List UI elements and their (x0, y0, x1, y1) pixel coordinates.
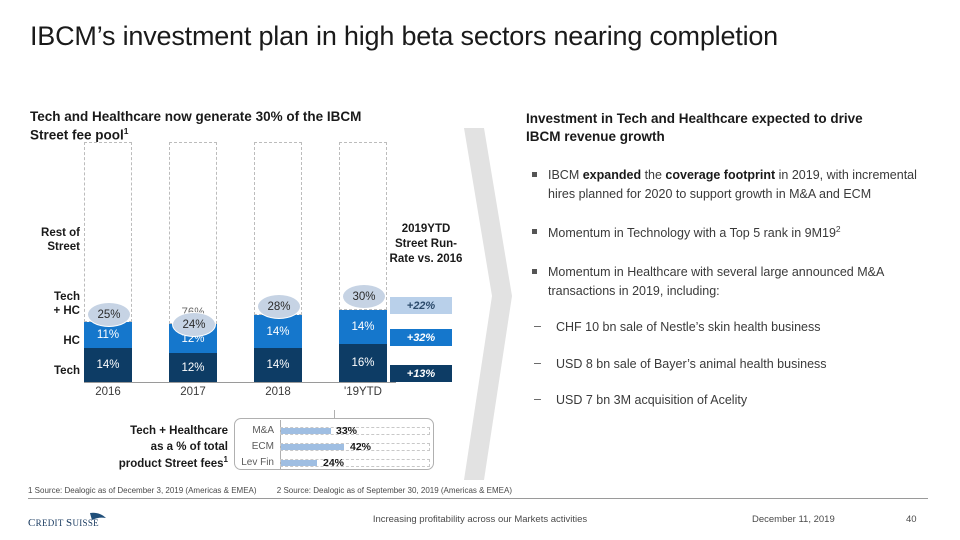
bar-segment-hc-19ytd: 14% (339, 310, 387, 344)
subchart-label-line1: Tech + Healthcare (130, 425, 228, 437)
left-heading-line1: Tech and Healthcare now generate 30% of … (30, 109, 361, 124)
bar-label-tech-2018: 14% (266, 359, 289, 371)
chart-axis-labels: Rest ofStreet Tech+ HC HC Tech (22, 142, 80, 382)
bullet-coverage-footprint: IBCM expanded the coverage footprint in … (526, 166, 936, 203)
bullet-healthcare-text: Momentum in Healthcare with several larg… (548, 265, 884, 298)
bar-segment-tech-2018: 14% (254, 348, 302, 382)
footer-date: December 11, 2019 (752, 514, 835, 525)
x-tick-label-2018: 2018 (254, 386, 302, 398)
bullet-part-2: expanded (583, 168, 641, 182)
subchart-label-line3: product Street fees (119, 458, 224, 470)
x-tick-label-19ytd: '19YTD (339, 386, 387, 398)
bar-segment-tech-2016: 14% (84, 348, 132, 382)
bar-segment-rest-2017: 76% (169, 142, 217, 324)
subchart-value-ecm: 42% (350, 440, 371, 454)
sub-bullet-list: CHF 10 bn sale of Nestle’s skin health b… (526, 318, 936, 410)
right-column: Investment in Tech and Healthcare expect… (526, 110, 936, 410)
subchart-track-levfin (280, 459, 430, 467)
runrate-label-hc: +32% (407, 332, 435, 344)
runrate-box-hc: +32% (390, 329, 452, 346)
bullet-part-1: IBCM (548, 168, 583, 182)
bar-column-2018: 72% 14% 14% 28% (254, 142, 302, 382)
axis-label-tech-plus-hc: Tech+ HC (22, 290, 80, 319)
subchart-category-ecm: ECM (238, 440, 274, 454)
bullet-technology-text: Momentum in Technology with a Top 5 rank… (548, 227, 836, 241)
runrate-box-tech: +13% (390, 365, 452, 382)
subchart-fill-ma (281, 428, 331, 434)
bubble-tech-plus-hc-2016: 25% (87, 302, 131, 327)
footnote-1: 1 Source: Dealogic as of December 3, 201… (28, 486, 257, 495)
bullet-healthcare-momentum: Momentum in Healthcare with several larg… (526, 263, 936, 300)
subchart-value-ma: 33% (336, 424, 357, 438)
runrate-label-tech: +13% (407, 368, 435, 380)
right-heading-line1: Investment in Tech and Healthcare expect… (526, 111, 863, 126)
sub-bullet-nestle: CHF 10 bn sale of Nestle’s skin health b… (526, 318, 936, 337)
left-column-heading-block: Tech and Healthcare now generate 30% of … (30, 108, 470, 144)
bar-column-2016: 75% 11% 14% 25% (84, 142, 132, 382)
right-heading-line2: IBCM revenue growth (526, 129, 665, 144)
subchart-category-ma: M&A (238, 424, 274, 438)
subchart-value-levfin: 24% (323, 456, 344, 470)
sub-bullet-acelity: USD 7 bn 3M acquisition of Acelity (526, 391, 936, 410)
bar-segment-tech-2017: 12% (169, 353, 217, 382)
bubble-label-2017: 24% (182, 319, 205, 331)
footer-page-number: 40 (906, 514, 917, 525)
bar-label-tech-19ytd: 16% (351, 357, 374, 369)
sub-bullet-bayer: USD 8 bn sale of Bayer’s animal health b… (526, 355, 936, 374)
bubble-tech-plus-hc-2017: 24% (172, 312, 216, 337)
runrate-label-tech-plus-hc: +22% (407, 300, 435, 312)
left-column-heading: Tech and Healthcare now generate 30% of … (30, 108, 470, 144)
bar-segment-tech-19ytd: 16% (339, 344, 387, 382)
slide: IBCM’s investment plan in high beta sect… (0, 0, 960, 540)
footer: CREDIT SUISSE Increasing profitability a… (0, 500, 960, 540)
footnotes: 1 Source: Dealogic as of December 3, 201… (28, 486, 928, 499)
right-column-heading: Investment in Tech and Healthcare expect… (526, 110, 936, 146)
bubble-label-2018: 28% (267, 301, 290, 313)
subchart-label: Tech + Healthcare as a % of total produc… (100, 424, 228, 472)
bullet-technology-momentum: Momentum in Technology with a Top 5 rank… (526, 223, 936, 243)
subchart-fill-levfin (281, 460, 317, 466)
subchart-fill-ecm (281, 444, 344, 450)
footnote-2: 2 Source: Dealogic as of September 30, 2… (277, 486, 512, 495)
x-tick-label-2017: 2017 (169, 386, 217, 398)
bar-label-hc-2018: 14% (266, 326, 289, 338)
bar-label-tech-2016: 14% (96, 359, 119, 371)
bar-label-hc-19ytd: 14% (351, 321, 374, 333)
bullet-part-3: the (641, 168, 665, 182)
bar-label-hc-2016: 11% (97, 329, 119, 341)
bullet-technology-footnote-marker: 2 (836, 224, 841, 234)
divider-arrow-icon (458, 128, 520, 480)
runrate-box-tech-plus-hc: +22% (390, 297, 452, 314)
bullet-list: IBCM expanded the coverage footprint in … (526, 166, 936, 300)
axis-label-rest-of-street: Rest ofStreet (22, 226, 80, 255)
bar-segment-hc-2018: 14% (254, 315, 302, 349)
chart-baseline (84, 382, 396, 383)
bar-segment-rest-2018: 72% (254, 142, 302, 315)
left-heading-line2: Street fee pool (30, 127, 124, 142)
product-mix-subchart: Tech + Healthcare as a % of total produc… (100, 422, 440, 480)
bar-segment-rest-2016: 75% (84, 142, 132, 322)
bubble-label-19ytd: 30% (352, 291, 375, 303)
bar-label-tech-2017: 12% (181, 362, 204, 374)
subchart-category-levfin: Lev Fin (238, 456, 274, 470)
axis-label-tech: Tech (22, 364, 80, 378)
subchart-label-line2: as a % of total (151, 441, 228, 453)
bubble-tech-plus-hc-19ytd: 30% (342, 284, 386, 309)
left-heading-footnote-marker: 1 (124, 126, 129, 136)
bubble-tech-plus-hc-2018: 28% (257, 294, 301, 319)
x-tick-label-2016: 2016 (84, 386, 132, 398)
subchart-footnote-marker: 1 (224, 455, 228, 464)
chart-bars: 75% 11% 14% 25% 76% 12% (84, 142, 394, 382)
bar-column-2017: 76% 12% 12% 24% (169, 142, 217, 382)
bullet-part-4: coverage footprint (665, 168, 775, 182)
bubble-label-2016: 25% (97, 309, 120, 321)
axis-label-hc: HC (22, 334, 80, 348)
page-title: IBCM’s investment plan in high beta sect… (30, 20, 930, 52)
